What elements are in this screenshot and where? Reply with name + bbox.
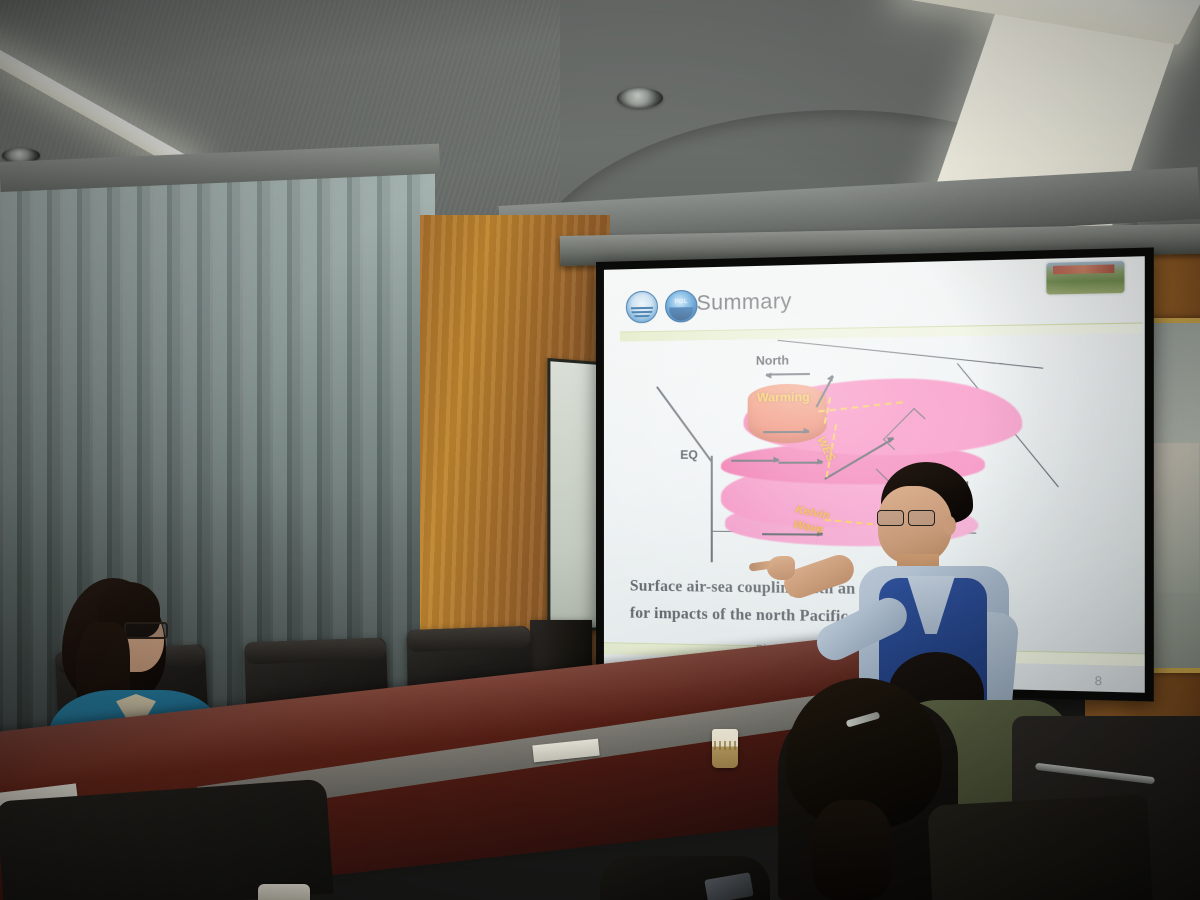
executive-chair-foreground (927, 794, 1152, 900)
slide-title: Summary (696, 290, 791, 316)
paper-cup (712, 729, 738, 768)
recessed-downlight (617, 88, 663, 108)
pol-lab-logo: POL (665, 290, 697, 323)
flow-arrow (766, 373, 810, 375)
whiteboard[interactable] (547, 358, 600, 634)
conference-room-photo: POL Summary (0, 0, 1200, 900)
axis-line-top (777, 340, 1043, 369)
pol-logo-text: POL (666, 299, 696, 306)
flow-arrow (731, 460, 778, 462)
glasses-icon (877, 510, 935, 525)
slide-title-rule (620, 322, 1143, 341)
diagram-label-north: North (756, 353, 789, 368)
chair-headrest (244, 638, 387, 665)
glasses-icon (124, 622, 168, 639)
chair-headrest (406, 626, 531, 652)
campus-photo-icon (1046, 261, 1124, 295)
ponytail (812, 800, 892, 900)
slide-page-number: 8 (1095, 673, 1102, 688)
flow-arrow (779, 462, 823, 464)
ear (943, 516, 956, 535)
diagram-label-warming: Warming (757, 390, 810, 405)
diagram-label-eq: EQ (680, 448, 698, 462)
slide-logos: POL (626, 290, 698, 324)
flow-arrow (763, 431, 809, 433)
mug (258, 884, 310, 900)
axis-line-vertical (711, 456, 713, 563)
institute-seal-logo (626, 291, 658, 324)
